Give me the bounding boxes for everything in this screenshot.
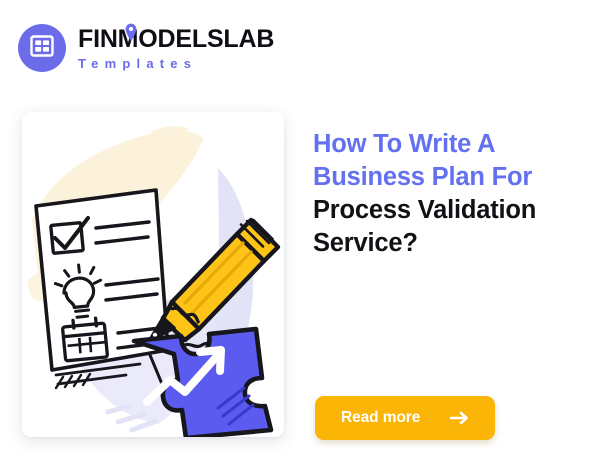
brand-name-text: FINMODELSLAB — [78, 27, 274, 52]
brand-subtitle: Templates — [78, 57, 274, 70]
brand-logo[interactable]: FINMODELSLAB Templates — [18, 24, 274, 72]
read-more-label: Read more — [341, 409, 420, 427]
business-plan-checklist-illustration — [22, 112, 284, 437]
headline-main-line-2: Service? — [313, 229, 418, 257]
brand-mark-circle — [18, 24, 66, 72]
headline-accent-line-2: Business Plan For — [313, 163, 532, 191]
grid-squares-icon — [29, 33, 55, 64]
headline-accent-line-1: How To Write A — [313, 130, 495, 158]
headline-main-line-1: Process Validation — [313, 196, 536, 224]
brand-wordmark: FINMODELSLAB Templates — [78, 27, 274, 70]
page-title: How To Write A Business Plan For Process… — [313, 128, 581, 261]
arrow-right-icon — [450, 411, 469, 425]
illustration-card — [22, 112, 284, 437]
headline-block: How To Write A Business Plan For Process… — [313, 128, 581, 261]
read-more-button[interactable]: Read more — [315, 396, 495, 440]
brand-name-label: FINMODELSLAB — [78, 25, 274, 53]
